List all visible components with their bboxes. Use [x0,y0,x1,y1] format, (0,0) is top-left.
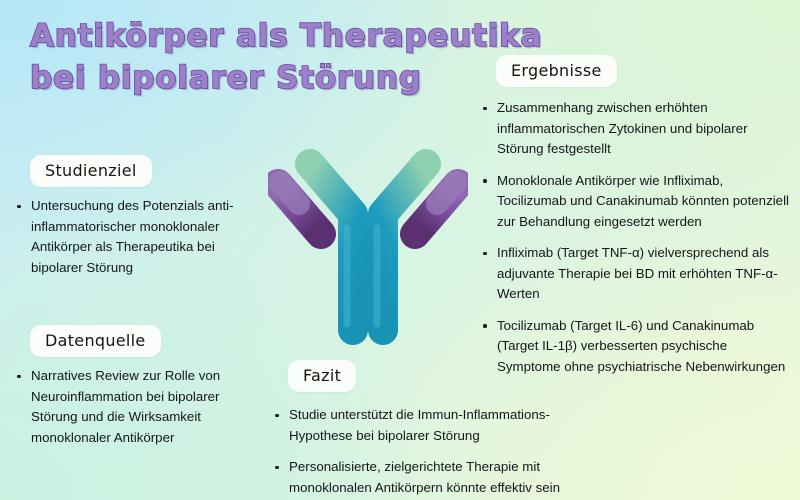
title-line-1: Antikörper als Therapeutika [30,16,460,56]
section-label-fazit: Fazit [288,360,356,392]
bullet-list-datenquelle: Narratives Review zur Rolle von Neuroinf… [12,366,262,448]
list-item: Zusammenhang zwischen erhöhten inflammat… [478,98,790,160]
page-title: Antikörper als Therapeutika bei bipolare… [30,16,460,98]
bullet-list-ergebnisse: Zusammenhang zwischen erhöhten inflammat… [478,98,790,377]
section-ergebnisse: Ergebnisse Zusammenhang zwischen erhöhte… [478,55,790,388]
bullet-list-studienziel: Untersuchung des Potenzials anti-inflamm… [12,196,257,278]
list-item: Narratives Review zur Rolle von Neuroinf… [12,366,262,448]
section-fazit: Fazit Studie unterstützt die Immun-Infla… [270,360,600,500]
section-studienziel: Studienziel Untersuchung des Potenzials … [12,155,257,278]
bullet-list-fazit: Studie unterstützt die Immun-Inflammatio… [270,405,600,498]
section-label-studienziel: Studienziel [30,155,152,187]
title-line-2: bei bipolarer Störung [30,58,460,98]
list-item: Monoklonale Antikörper wie Infliximab, T… [478,171,790,233]
list-item: Infliximab (Target TNF-α) vielverspreche… [478,243,790,305]
list-item: Studie unterstützt die Immun-Inflammatio… [270,405,600,446]
section-datenquelle: Datenquelle Narratives Review zur Rolle … [12,325,262,448]
infographic-canvas: Antikörper als Therapeutika bei bipolare… [0,0,800,500]
section-label-ergebnisse: Ergebnisse [496,55,617,87]
section-label-datenquelle: Datenquelle [30,325,161,357]
list-item: Untersuchung des Potenzials anti-inflamm… [12,196,257,278]
antibody-y-shape-icon [268,148,468,350]
list-item: Personalisierte, zielgerichtete Therapie… [270,457,600,498]
